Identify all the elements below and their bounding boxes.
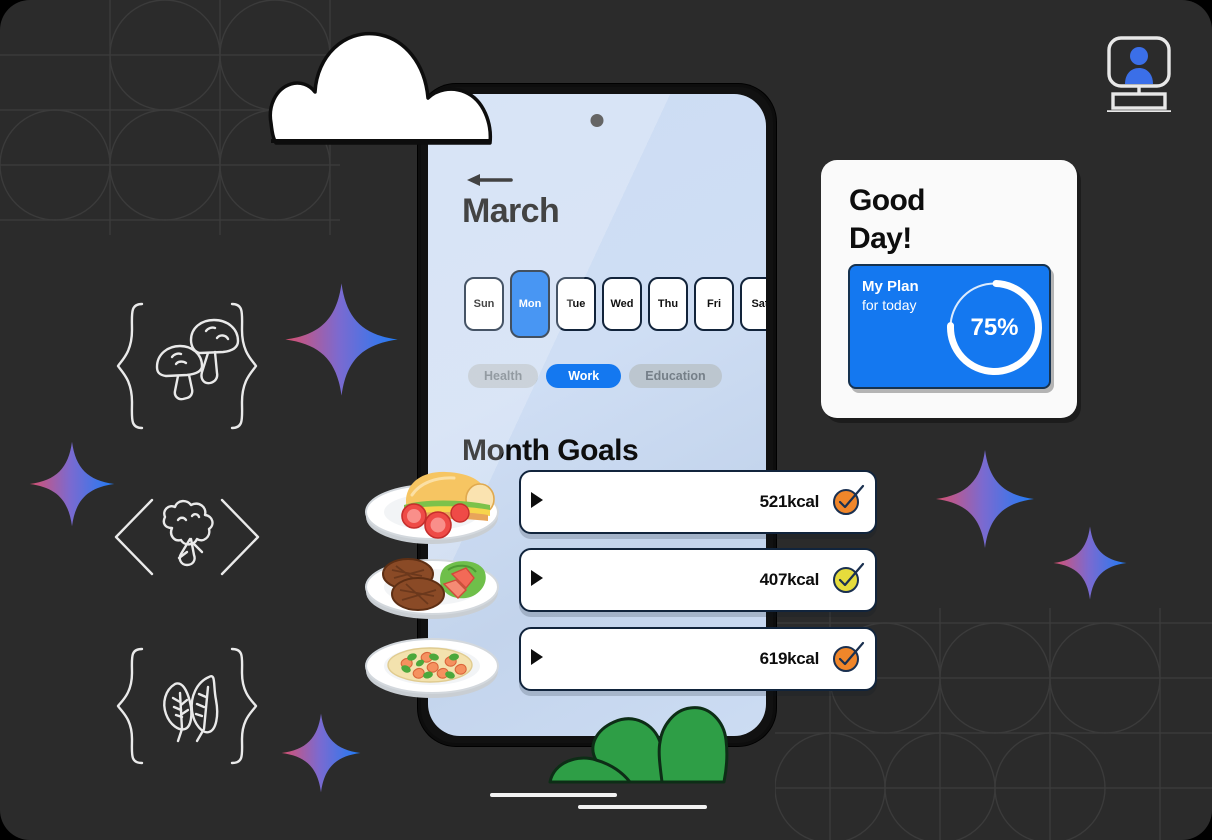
sparkle-icon [1052,525,1128,601]
goal-calories: 619kcal [760,649,819,669]
good-day-card: Good Day! My Plan for today 75% [821,160,1077,418]
broccoli-icon [164,501,213,565]
weekday-label: Sat [751,298,766,310]
good-day-title: Good Day! [849,182,925,258]
check-badge-icon[interactable] [831,561,865,600]
page-title: March [462,192,559,231]
goal-calories: 521kcal [760,492,819,512]
weekday-chip-fri[interactable]: Fri [694,277,734,331]
category-pill-health[interactable]: Health [468,364,538,388]
weekday-selector[interactable]: Sun Mon Tue Wed Thu Fri Sat [464,270,766,338]
camera-dot [591,114,604,127]
weekday-label: Mon [519,298,542,310]
weekday-label: Fri [707,298,721,310]
decor-line [490,793,617,797]
category-pill-work[interactable]: Work [546,364,621,388]
play-icon[interactable] [529,568,545,593]
weekday-label: Thu [658,298,678,310]
back-arrow-icon[interactable] [466,172,513,193]
weekday-chip-mon[interactable]: Mon [510,270,550,338]
sparkle-icon [28,440,116,528]
weekday-chip-thu[interactable]: Thu [648,277,688,331]
spinach-leaves-icon [164,676,217,741]
presenter-screen-icon[interactable] [1103,36,1175,117]
cloud-shape [262,28,494,151]
category-filter[interactable]: Health Work Education [468,364,722,388]
check-badge-icon[interactable] [831,640,865,679]
bracket-decoration-spinach [116,645,258,767]
mushrooms-icon [157,320,238,399]
my-plan-title: My Plan [862,278,919,295]
my-plan-widget[interactable]: My Plan for today 75% [848,264,1051,389]
goal-calories: 407kcal [760,570,819,590]
weekday-label: Tue [567,298,586,310]
goal-card[interactable]: 407kcal [519,548,877,612]
weekday-chip-sun[interactable]: Sun [464,277,504,331]
bracket-decoration-broccoli [112,492,262,582]
goal-card[interactable]: 521kcal [519,470,877,534]
progress-percent-label: 75% [944,277,1045,378]
meal-plate-pasta [362,613,502,710]
bracket-decoration-mushrooms [116,300,258,432]
goal-card[interactable]: 619kcal [519,627,877,691]
weekday-chip-tue[interactable]: Tue [556,277,596,331]
check-badge-icon[interactable] [831,483,865,522]
weekday-label: Wed [610,298,633,310]
play-icon[interactable] [529,647,545,672]
category-pill-education[interactable]: Education [629,364,721,388]
poster-canvas: March Sun Mon Tue Wed Thu Fri Sat Health… [0,0,1212,840]
sparkle-icon [934,448,1036,550]
leaf-plant-shape [548,694,743,789]
weekday-chip-sat[interactable]: Sat [740,277,766,331]
my-plan-labels: My Plan for today [862,278,919,314]
sparkle-icon [283,281,400,398]
play-icon[interactable] [529,490,545,515]
sparkle-icon [280,712,362,794]
decor-line [578,805,707,809]
weekday-chip-wed[interactable]: Wed [602,277,642,331]
weekday-label: Sun [474,298,495,310]
my-plan-subtitle: for today [862,296,919,314]
